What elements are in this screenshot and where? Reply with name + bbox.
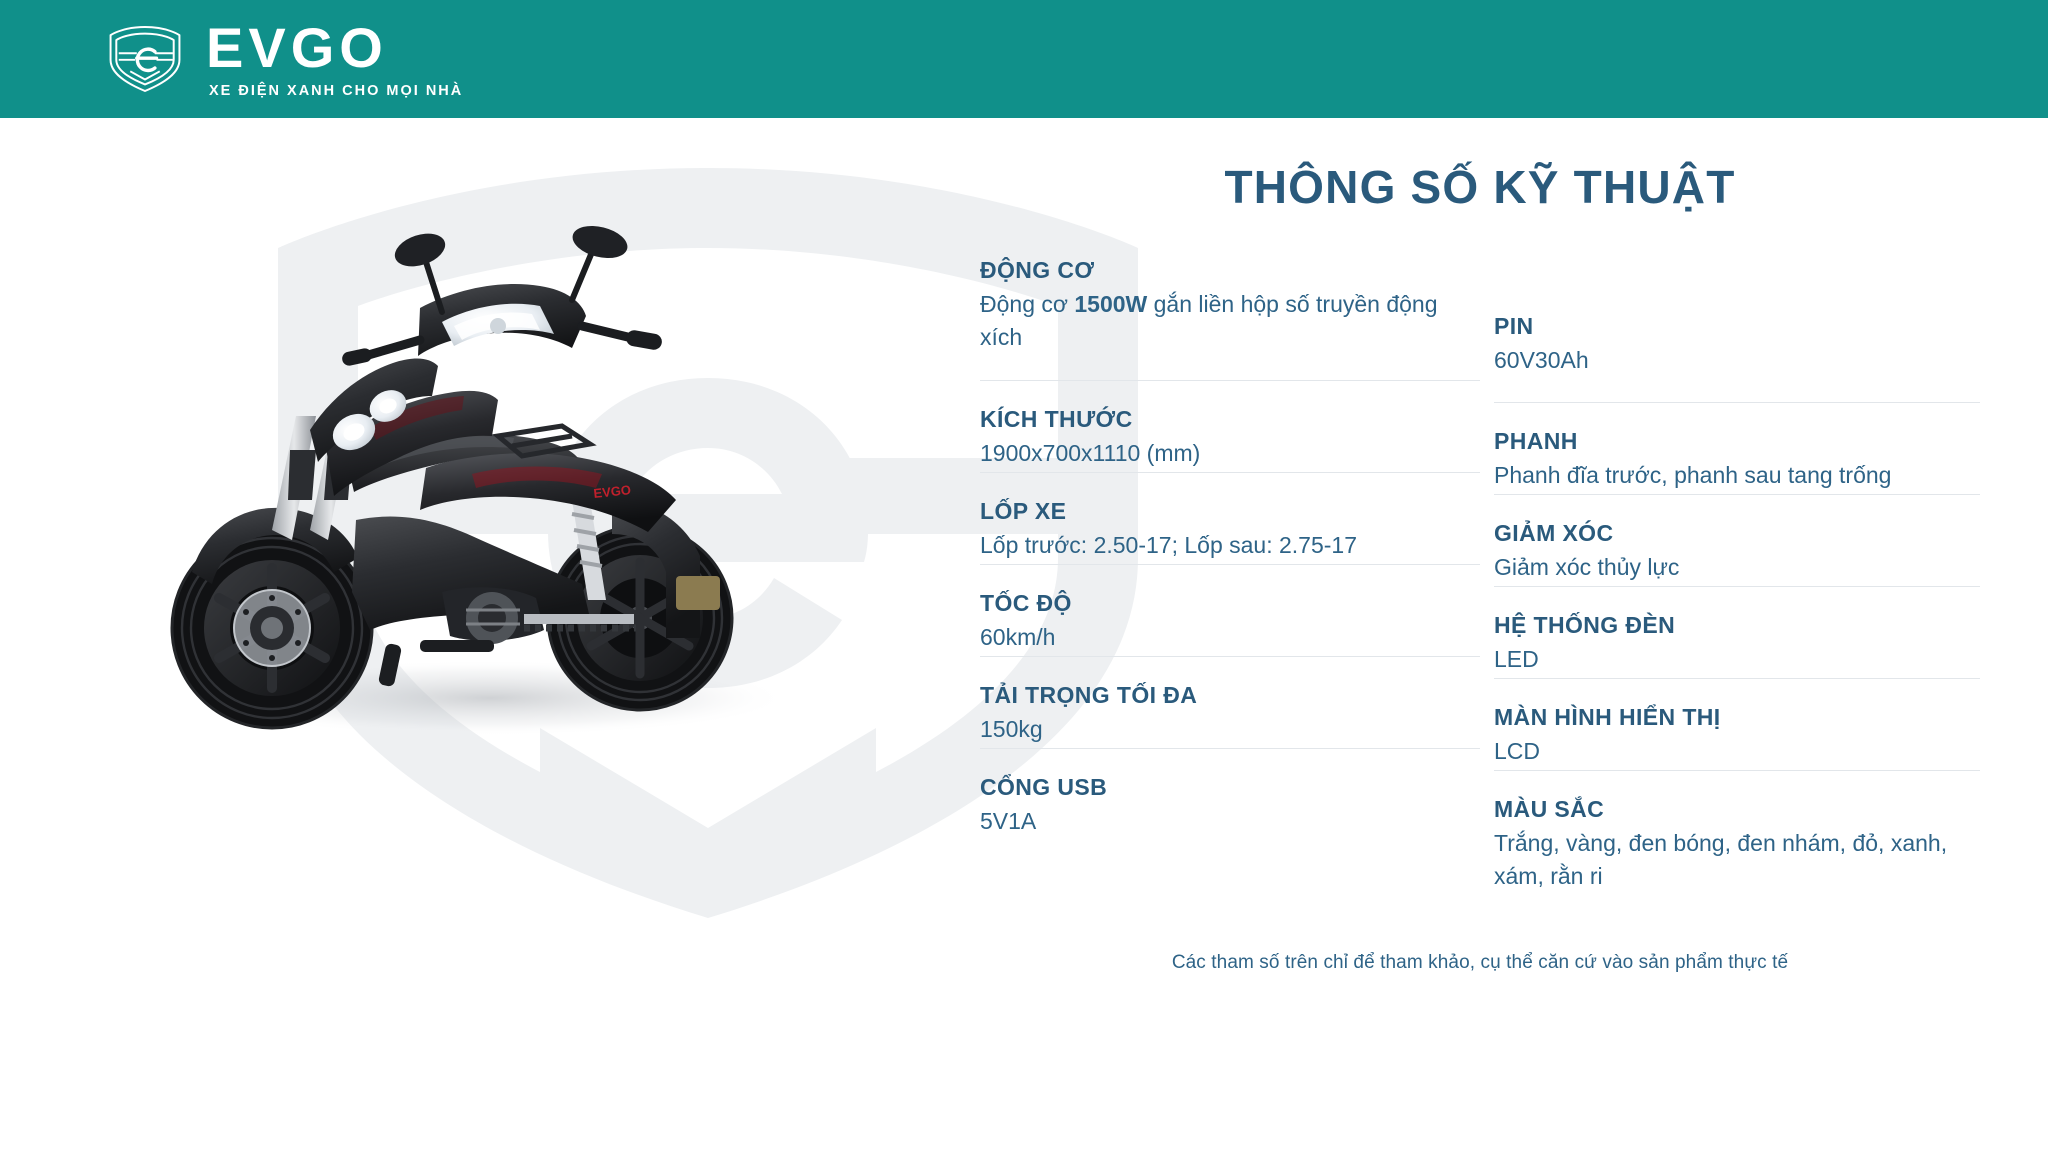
brand-wordmark: EVGO — [206, 20, 388, 76]
brand-logo[interactable]: EVGO XE ĐIỆN XANH CHO MỌI NHÀ — [104, 20, 463, 99]
spec-label: MÀN HÌNH HIỂN THỊ — [1494, 703, 1980, 732]
evgo-shield-icon — [104, 22, 186, 96]
spec-value: Lốp trước: 2.50-17; Lốp sau: 2.75-17 — [980, 529, 1480, 562]
spec-value: 60V30Ah — [1494, 344, 1980, 377]
spec-label: MÀU SẮC — [1494, 795, 1980, 824]
spec-label: ĐỘNG CƠ — [980, 256, 1480, 285]
spec-label: TẢI TRỌNG TỐI ĐA — [980, 681, 1480, 710]
spec-column-right: PIN 60V30Ah PHANH Phanh đĩa trước, phanh… — [1480, 254, 1980, 896]
spec-value: 60km/h — [980, 621, 1480, 654]
spec-column-left: ĐỘNG CƠ Động cơ 1500W gắn liền hộp số tr… — [980, 254, 1480, 840]
brand-header: EVGO XE ĐIỆN XANH CHO MỌI NHÀ — [0, 0, 2048, 118]
spec-value: Giảm xóc thủy lực — [1494, 551, 1980, 584]
spec-item-man-hinh-hien-thi: MÀN HÌNH HIỂN THỊ LCD — [1494, 678, 1980, 770]
spec-label: LỐP XE — [980, 497, 1480, 526]
page-title: THÔNG SỐ KỸ THUẬT — [980, 160, 1980, 214]
spec-label: TỐC ĐỘ — [980, 589, 1480, 618]
spec-label: KÍCH THƯỚC — [980, 405, 1480, 434]
spec-item-toc-do: TỐC ĐỘ 60km/h — [980, 564, 1480, 656]
spec-label: PIN — [1494, 312, 1980, 341]
spec-value: LED — [1494, 643, 1980, 676]
spec-value: Phanh đĩa trước, phanh sau tang trống — [1494, 459, 1980, 492]
spec-value: Trắng, vàng, đen bóng, đen nhám, đỏ, xan… — [1494, 827, 1980, 894]
spec-label: HỆ THỐNG ĐÈN — [1494, 611, 1980, 640]
spec-sheet-page: EVGO XE ĐIỆN XANH CHO MỌI NHÀ — [0, 0, 2048, 1150]
specifications-panel: THÔNG SỐ KỸ THUẬT ĐỘNG CƠ Động cơ 1500W … — [980, 160, 1980, 974]
spec-label: PHANH — [1494, 427, 1980, 456]
spec-value: Động cơ 1500W gắn liền hộp số truyền độn… — [980, 288, 1480, 355]
spec-value: 1900x700x1110 (mm) — [980, 437, 1480, 470]
spec-item-phanh: PHANH Phanh đĩa trước, phanh sau tang tr… — [1494, 402, 1980, 494]
spec-item-dong-co: ĐỘNG CƠ Động cơ 1500W gắn liền hộp số tr… — [980, 254, 1480, 380]
spec-item-lop-xe: LỐP XE Lốp trước: 2.50-17; Lốp sau: 2.75… — [980, 472, 1480, 564]
brand-tagline: XE ĐIỆN XANH CHO MỌI NHÀ — [209, 84, 463, 99]
spec-item-pin: PIN 60V30Ah — [1494, 310, 1980, 402]
spec-value: 5V1A — [980, 805, 1480, 838]
spec-footnote: Các tham số trên chỉ để tham khảo, cụ th… — [980, 952, 1980, 974]
spec-label: GIẢM XÓC — [1494, 519, 1980, 548]
spec-item-cong-usb: CỔNG USB 5V1A — [980, 748, 1480, 840]
spec-item-he-thong-den: HỆ THỐNG ĐÈN LED — [1494, 586, 1980, 678]
spec-item-mau-sac: MÀU SẮC Trắng, vàng, đen bóng, đen nhám,… — [1494, 770, 1980, 896]
motorcycle-image: EVGO — [120, 200, 880, 760]
spec-value: LCD — [1494, 735, 1980, 768]
spec-value: 150kg — [980, 713, 1480, 746]
spec-item-tai-trong-toi-da: TẢI TRỌNG TỐI ĐA 150kg — [980, 656, 1480, 748]
spec-label: CỔNG USB — [980, 773, 1480, 802]
spec-item-kich-thuoc: KÍCH THƯỚC 1900x700x1110 (mm) — [980, 380, 1480, 472]
spec-item-giam-xoc: GIẢM XÓC Giảm xóc thủy lực — [1494, 494, 1980, 586]
spec-grid: ĐỘNG CƠ Động cơ 1500W gắn liền hộp số tr… — [980, 254, 1980, 896]
